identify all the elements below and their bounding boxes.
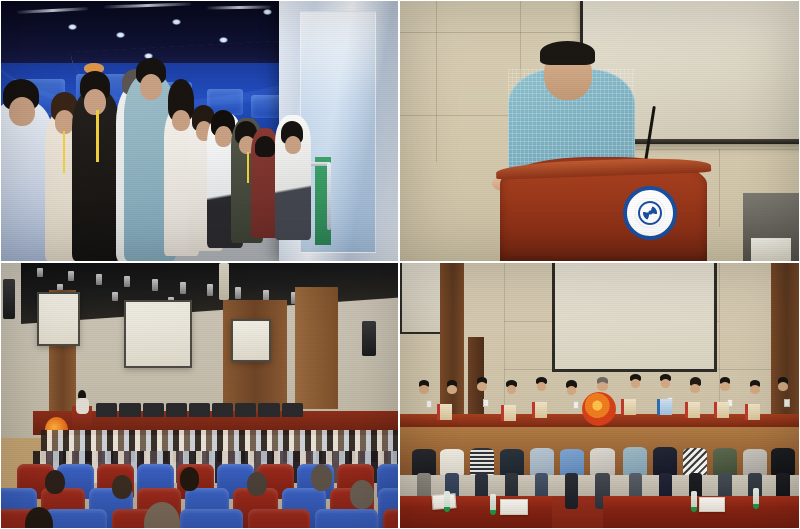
attendee-head xyxy=(350,480,374,509)
projection-screen-left xyxy=(37,292,81,346)
attendee-head xyxy=(180,467,200,491)
wall-tile-seam xyxy=(436,1,437,162)
projection-screen-right xyxy=(231,319,271,363)
stage-light xyxy=(68,271,74,281)
panel-top-right xyxy=(399,0,800,262)
speaker-at-podium-photo xyxy=(400,1,799,261)
attendee-head xyxy=(112,475,132,499)
projection-screen-center xyxy=(124,300,192,368)
display-glass xyxy=(300,11,376,252)
wall-tile-seam xyxy=(400,32,580,33)
water-bottle xyxy=(753,488,759,509)
visitor-hair xyxy=(255,136,275,157)
ceiling-spotlight xyxy=(172,19,181,25)
projection-screen xyxy=(552,263,718,372)
speaker-hair xyxy=(540,41,594,64)
attendee-head xyxy=(311,464,333,491)
panel-bottom-right xyxy=(399,262,800,529)
auditorium-audience-photo xyxy=(1,263,398,528)
stage-light xyxy=(112,292,118,301)
award-ceremony-group-photo xyxy=(400,263,799,528)
attendee-head xyxy=(247,472,267,496)
recipient xyxy=(500,382,524,475)
bouquet xyxy=(582,392,616,426)
stage-light xyxy=(180,282,186,294)
visitor-head xyxy=(285,136,301,154)
photo-collage xyxy=(0,0,800,529)
seat-row xyxy=(1,509,398,528)
wood-wall-panel xyxy=(295,287,339,409)
visitor-head xyxy=(215,126,232,147)
water-bottle xyxy=(691,491,697,512)
stage-light xyxy=(235,287,241,299)
attendee-head xyxy=(45,470,65,494)
chandelier xyxy=(219,263,229,300)
lanyard xyxy=(247,152,249,183)
stage-light xyxy=(124,276,130,287)
water-bottle xyxy=(444,491,450,512)
recipient xyxy=(743,382,767,475)
recipient xyxy=(440,382,464,475)
name-card xyxy=(500,499,528,515)
lanyard xyxy=(96,110,99,162)
wall-tile-seam xyxy=(719,149,720,227)
recipient xyxy=(530,380,554,475)
panel-bottom-left xyxy=(0,262,399,529)
spiral-icon xyxy=(635,198,665,228)
head-table-left xyxy=(400,496,552,528)
recipient-with-bouquet xyxy=(590,380,616,475)
recipient xyxy=(683,380,707,475)
visitor-head xyxy=(172,110,190,131)
stage-light xyxy=(37,268,43,277)
projection-screen-side xyxy=(400,263,444,334)
recipient xyxy=(560,382,584,475)
recipient xyxy=(470,380,494,475)
recipient xyxy=(713,380,737,475)
stage-light xyxy=(96,274,102,285)
recipient xyxy=(412,382,436,475)
handrail xyxy=(327,162,331,230)
exhibition-hall-tour-photo xyxy=(1,1,398,261)
panel-top-left xyxy=(0,0,399,262)
lanyard xyxy=(63,131,65,173)
stage-light xyxy=(152,279,158,291)
recipient xyxy=(653,377,677,475)
wall-speaker xyxy=(362,321,376,355)
presenter-body xyxy=(76,398,89,414)
visitor-head xyxy=(84,89,106,115)
ceiling-spotlight xyxy=(263,9,272,15)
water-bottle xyxy=(490,494,496,515)
recipient xyxy=(771,380,795,475)
head-table-chairs xyxy=(96,403,302,416)
visitor-head xyxy=(9,97,35,126)
stacked-papers xyxy=(751,238,791,261)
recipient xyxy=(623,377,647,475)
stage-light xyxy=(207,284,213,296)
name-card xyxy=(699,497,725,512)
visitor-head xyxy=(140,74,162,100)
wall-speaker xyxy=(3,279,15,319)
